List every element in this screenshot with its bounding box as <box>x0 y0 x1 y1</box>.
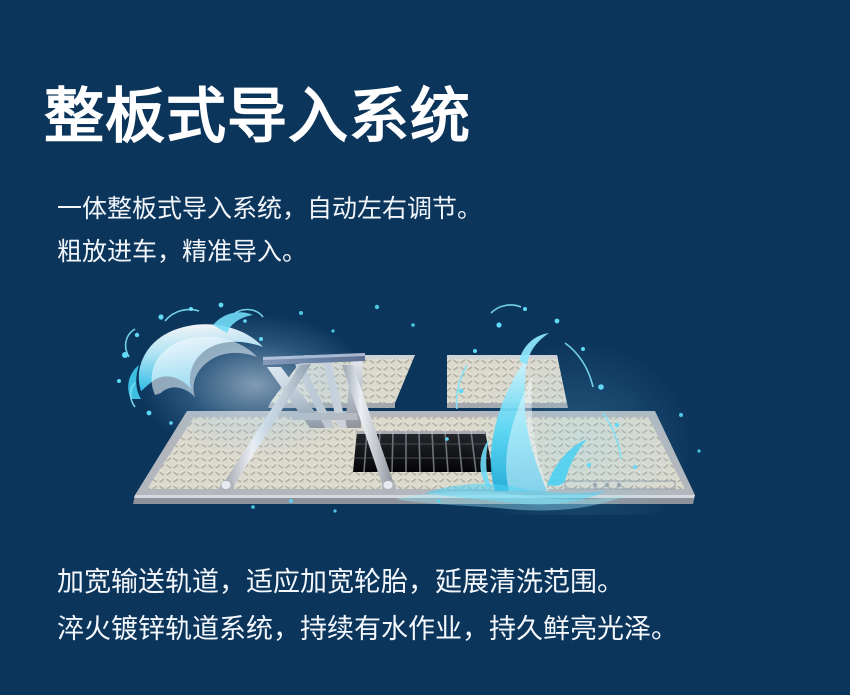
footer-line-2: 淬火镀锌轨道系统，持续有水作业，持久鲜亮光泽。 <box>57 606 678 653</box>
product-illustration <box>95 295 735 535</box>
product-feature-poster: 整板式导入系统 一体整板式导入系统，自动左右调节。 粗放进车，精准导入。 <box>0 0 850 695</box>
subtitle-line-2: 粗放进车，精准导入。 <box>57 231 482 274</box>
water-splash-left <box>117 303 263 425</box>
subtitle-block: 一体整板式导入系统，自动左右调节。 粗放进车，精准导入。 <box>57 188 482 274</box>
subtitle-line-1: 一体整板式导入系统，自动左右调节。 <box>57 188 482 231</box>
page-title: 整板式导入系统 <box>44 82 471 153</box>
product-illustration-svg <box>95 295 735 535</box>
footer-block: 加宽输送轨道，适应加宽轮胎，延展清洗范围。 淬火镀锌轨道系统，持续有水作业，持久… <box>57 559 678 653</box>
footer-line-1: 加宽输送轨道，适应加宽轮胎，延展清洗范围。 <box>57 559 678 606</box>
